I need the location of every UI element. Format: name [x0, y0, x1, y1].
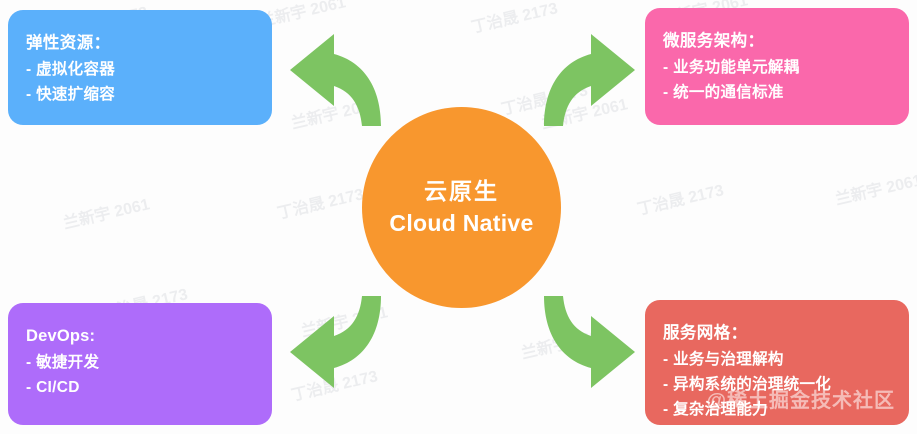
card-list-item: - 复杂治理能力: [663, 397, 909, 422]
card-elastic-resources[interactable]: 弹性资源： - 虚拟化容器 - 快速扩缩容: [8, 10, 272, 125]
watermark-text: 兰新宇 2061: [518, 320, 609, 363]
card-list-item: - 业务与治理解构: [663, 347, 909, 372]
watermark-text: 兰新宇 2061: [832, 166, 917, 209]
card-service-mesh[interactable]: 服务网格： - 业务与治理解构 - 异构系统的治理统一化 - 复杂治理能力 @稀…: [645, 300, 909, 425]
card-list-item: - 虚拟化容器: [26, 57, 272, 82]
card-list-item: - 统一的通信标准: [663, 80, 909, 105]
card-title: 服务网格：: [663, 320, 909, 347]
diagram-canvas: 丁治晟 2173 兰新宇 2061 丁治晟 2173 兰新宇 2061 丁治晟 …: [0, 0, 917, 434]
watermark-text: 丁治晟 2173: [274, 180, 365, 223]
watermark-text: 丁治晟 2173: [498, 76, 589, 119]
center-title-cn: 云原生: [424, 176, 499, 207]
center-title-en: Cloud Native: [389, 208, 533, 239]
watermark-text: 兰新宇 2061: [60, 190, 151, 233]
card-title: DevOps:: [26, 323, 272, 350]
card-list-item: - 业务功能单元解耦: [663, 55, 909, 80]
arrow-curved-up-right-icon: [533, 18, 645, 130]
watermark-text: 丁治晟 2173: [288, 362, 379, 405]
arrow-curved-down-left-icon: [280, 292, 392, 404]
card-title: 弹性资源：: [26, 30, 272, 57]
watermark-text: 兰新宇 2061: [298, 298, 389, 341]
watermark-text: 兰新宇 2061: [288, 90, 379, 133]
watermark-text: 兰新宇 2061: [538, 90, 629, 133]
arrow-curved-down-right-icon: [533, 292, 645, 404]
card-list-item: - 异构系统的治理统一化: [663, 372, 909, 397]
card-devops[interactable]: DevOps: - 敏捷开发 - CI/CD: [8, 303, 272, 425]
card-list-item: - 快速扩缩容: [26, 82, 272, 107]
arrow-curved-up-left-icon: [280, 18, 392, 130]
card-list-item: - CI/CD: [26, 375, 272, 400]
card-microservice-architecture[interactable]: 微服务架构： - 业务功能单元解耦 - 统一的通信标准: [645, 8, 909, 125]
card-list-item: - 敏捷开发: [26, 350, 272, 375]
center-node-cloud-native[interactable]: 云原生 Cloud Native: [362, 107, 561, 308]
card-title: 微服务架构：: [663, 28, 909, 55]
watermark-text: 丁治晟 2173: [634, 176, 725, 219]
watermark-text: 丁治晟 2173: [468, 0, 559, 38]
